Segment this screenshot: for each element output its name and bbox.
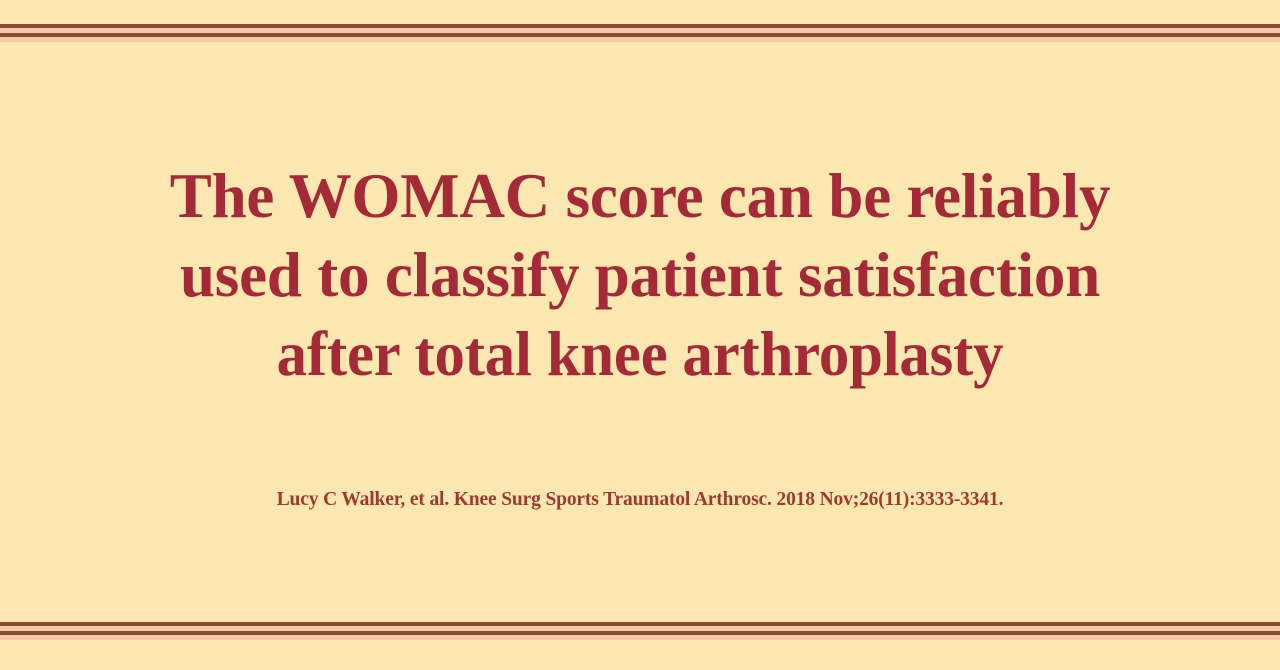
- title-line-3: after total knee arthroplasty: [71, 315, 1210, 394]
- title-line-2: used to classify patient satisfaction: [50, 236, 1230, 315]
- bottom-rule-light-line-2: [0, 635, 1280, 640]
- title-line-1: The WOMAC score can be reliably: [50, 157, 1230, 236]
- citation-text: Lucy C Walker, et al. Knee Surg Sports T…: [50, 487, 1230, 513]
- slide-title: The WOMAC score can be reliably used to …: [50, 157, 1230, 394]
- slide-content: The WOMAC score can be reliably used to …: [0, 41, 1280, 622]
- top-rule-band: [0, 24, 1280, 41]
- bottom-rule-band: [0, 622, 1280, 639]
- slide-canvas: The WOMAC score can be reliably used to …: [0, 0, 1280, 670]
